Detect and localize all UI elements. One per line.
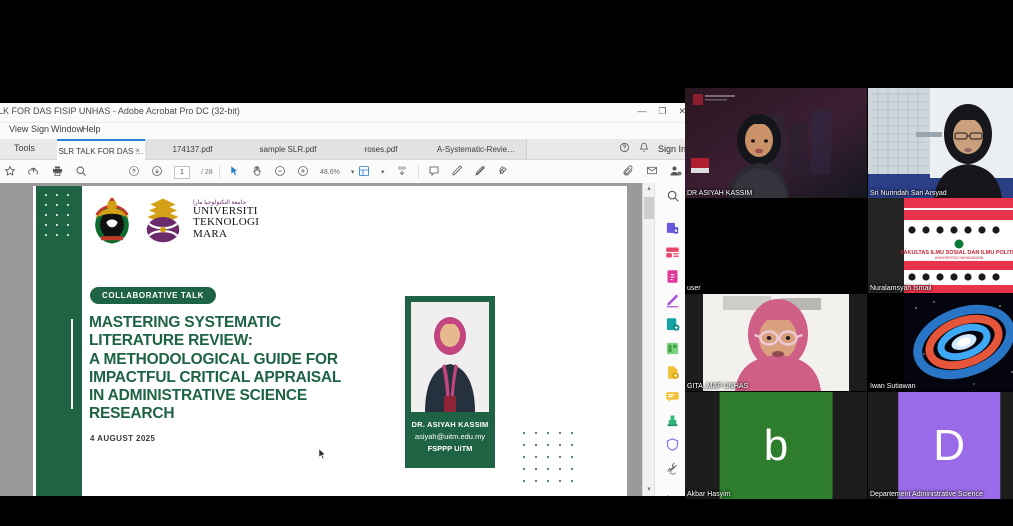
print-icon[interactable] (51, 165, 64, 180)
collaborative-talk-badge: COLLABORATIVE TALK (90, 287, 216, 304)
decorative-dot-grid-left (45, 194, 79, 238)
cursor-arrow-icon[interactable] (229, 165, 240, 180)
title-line: IMPACTFUL CRITICAL APPRAISAL (89, 369, 419, 387)
hand-icon[interactable] (251, 165, 263, 180)
tab-label: A-Systematic-Revie… (437, 145, 515, 154)
stamp-icon[interactable] (664, 413, 681, 428)
menu-item-view[interactable]: View (9, 124, 28, 134)
tab-bar-actions: Sign In (619, 142, 686, 156)
menu-bar: t View Sign Window Help (0, 123, 690, 139)
page-total-label: / 28 (201, 169, 213, 176)
draw-freehand-icon[interactable] (497, 165, 509, 180)
zoom-dropdown-caret-icon[interactable]: ▾ (351, 168, 355, 176)
page-up-icon[interactable] (128, 165, 140, 180)
tab-174137[interactable]: 174137.pdf (145, 139, 241, 159)
screen: ALK FOR DAS FISIP UNHAS - Adobe Acrobat … (0, 0, 1013, 526)
document-pane[interactable]: جامعة التكنولوجيا مارا UNIVERSITI TEKNOL… (0, 183, 690, 496)
participant-name: Nuralamsyah Ismail (870, 285, 931, 292)
combine-files-icon[interactable] (664, 341, 681, 356)
help-circle-icon[interactable] (619, 142, 630, 156)
window-title: ALK FOR DAS FISIP UNHAS - Adobe Acrobat … (0, 106, 240, 116)
title-bar: ALK FOR DAS FISIP UNHAS - Adobe Acrobat … (0, 103, 690, 123)
meeting-video-grid: DR ASIYAH KASSIM (685, 88, 1013, 503)
speaker-org: FSPPP UiTM (405, 444, 495, 453)
create-pdf-icon[interactable] (664, 269, 681, 284)
zoom-level-value[interactable]: 48.6% (320, 169, 340, 176)
star-icon[interactable] (4, 165, 16, 180)
participant-name: Departement Administrative Science (870, 491, 983, 498)
tab-label: 174137.pdf (172, 145, 212, 154)
menu-item-help[interactable]: Help (82, 124, 101, 134)
window-controls[interactable]: — ❐ ✕ (637, 105, 686, 117)
unhas-garuda-logo-icon (91, 194, 133, 246)
video-tile-iwan-sutiawan[interactable]: Iwan Sutiawan (868, 294, 1013, 391)
collapse-panel-icon[interactable] (664, 493, 681, 496)
participant-name: Akbar Hasyim (687, 491, 731, 498)
tab-strip: e Tools SLR TALK FOR DAS … × 174137.pdf … (0, 139, 690, 160)
minimize-icon[interactable]: — (637, 105, 646, 117)
fill-sign-icon[interactable] (664, 389, 681, 404)
decorative-dot-grid-right (523, 432, 583, 488)
avatar-initial: b (720, 392, 833, 499)
video-tile-nuralamsyah-ismail[interactable]: FAKULTAS ILMU SOSIAL DAN ILMU POLITIK UN… (868, 198, 1013, 293)
title-line: MASTERING SYSTEMATIC (89, 314, 419, 332)
comment-tool-icon[interactable] (664, 317, 681, 332)
participant-name: DR ASIYAH KASSIM (687, 190, 752, 197)
tab-sample-slr[interactable]: sample SLR.pdf (240, 139, 337, 159)
video-tile-user[interactable]: user (685, 198, 867, 293)
tab-a-systematic-review[interactable]: A-Systematic-Revie… (426, 139, 527, 159)
menu-item-window[interactable]: Window (51, 124, 83, 134)
slide-title: MASTERING SYSTEMATIC LITERATURE REVIEW: … (89, 314, 419, 424)
uitm-logo-icon (143, 197, 183, 243)
participant-name: user (687, 285, 701, 292)
page-number-input[interactable]: 1 (174, 166, 190, 179)
fit-page-caret-icon[interactable]: ▾ (381, 168, 385, 176)
uitm-line-3: MARA (193, 229, 259, 240)
zoom-in-icon[interactable] (297, 165, 309, 180)
title-line: LITERATURE REVIEW: (89, 332, 419, 350)
tab-roses[interactable]: roses.pdf (336, 139, 427, 159)
tab-label: sample SLR.pdf (260, 145, 317, 154)
highlight-pen-icon[interactable] (451, 165, 463, 180)
maximize-icon[interactable]: ❐ (658, 105, 666, 117)
avatar-initial: D (898, 392, 1000, 499)
fit-width-icon[interactable] (396, 165, 408, 180)
slide-date: 4 AUGUST 2025 (90, 434, 155, 443)
menu-item-sign[interactable]: Sign (31, 124, 49, 134)
protect-icon[interactable] (664, 437, 681, 452)
speaker-email: asiyah@uitm.edu.my (405, 432, 495, 441)
speaker-card: DR. ASIYAH KASSIM asiyah@uitm.edu.my FSP… (405, 296, 495, 468)
participant-name: GITA_MAP UNHAS (687, 383, 748, 390)
more-tools-icon[interactable] (664, 461, 681, 475)
zoom-search-icon[interactable] (75, 165, 87, 180)
email-icon[interactable] (646, 165, 658, 179)
tools-tab[interactable]: Tools (14, 143, 35, 153)
export-pdf-icon[interactable] (664, 221, 681, 236)
erase-icon[interactable] (474, 165, 486, 180)
title-line: RESEARCH (89, 405, 419, 423)
comment-icon[interactable] (428, 165, 440, 180)
video-tile-akbar-hasyim[interactable]: b Akbar Hasyim (685, 392, 867, 499)
slide-canvas: جامعة التكنولوجيا مارا UNIVERSITI TEKNOL… (33, 186, 627, 496)
slide-left-green-band (36, 186, 82, 496)
share-person-icon[interactable] (670, 165, 682, 180)
slide-logos: جامعة التكنولوجيا مارا UNIVERSITI TEKNOL… (91, 194, 259, 246)
speaker-photo (411, 302, 489, 412)
toolbar: 1 / 28 48.6% ▾ (0, 160, 690, 185)
svg-text:UNIVERSITAS HASANUDDIN: UNIVERSITAS HASANUDDIN (935, 256, 984, 260)
attach-icon[interactable] (622, 165, 634, 180)
organize-pages-icon[interactable] (664, 245, 681, 260)
sign-in-button[interactable]: Sign In (658, 144, 686, 154)
tab-close-icon[interactable]: × (135, 146, 140, 155)
uitm-wordmark: جامعة التكنولوجيا مارا UNIVERSITI TEKNOL… (193, 200, 259, 240)
fit-page-icon[interactable] (358, 165, 370, 180)
video-tile-gita-map-unhas[interactable]: GITA_MAP UNHAS (685, 294, 867, 391)
pdf-page[interactable]: جامعة التكنولوجيا مارا UNIVERSITI TEKNOL… (33, 186, 627, 496)
video-tile-dr-asiyah-kassim[interactable]: DR ASIYAH KASSIM (685, 88, 867, 198)
title-line: A METHODOLOGICAL GUIDE FOR (89, 351, 419, 369)
compress-pdf-icon[interactable] (664, 365, 681, 380)
speaker-name: DR. ASIYAH KASSIM (405, 420, 495, 429)
upload-cloud-icon[interactable] (27, 165, 40, 180)
slide-accent-bar (71, 319, 73, 409)
zoom-out-icon[interactable] (274, 165, 286, 180)
video-tile-departement-administrative-science[interactable]: D Departement Administrative Science (868, 392, 1013, 499)
participant-name: Sri Nurindah Sari Arsyad (870, 190, 947, 197)
page-down-icon[interactable] (151, 165, 163, 180)
tab-label: roses.pdf (365, 145, 398, 154)
mouse-cursor-icon (318, 448, 327, 461)
acrobat-window: ALK FOR DAS FISIP UNHAS - Adobe Acrobat … (0, 103, 690, 496)
search-tool-icon[interactable] (664, 189, 681, 203)
tab-label: SLR TALK FOR DAS … (58, 147, 143, 156)
edit-pdf-icon[interactable] (664, 293, 681, 308)
tab-slr-talk[interactable]: SLR TALK FOR DAS … × (57, 139, 146, 161)
title-line: IN ADMINISTRATIVE SCIENCE (89, 387, 419, 405)
bell-icon[interactable] (639, 142, 649, 156)
participant-name: Iwan Sutiawan (870, 383, 916, 390)
uitm-line-2: TEKNOLOGI (193, 217, 259, 228)
video-tile-sri-nurindah-sari-arsyad[interactable]: Sri Nurindah Sari Arsyad (868, 88, 1013, 198)
scrollbar-thumb[interactable] (644, 197, 654, 219)
